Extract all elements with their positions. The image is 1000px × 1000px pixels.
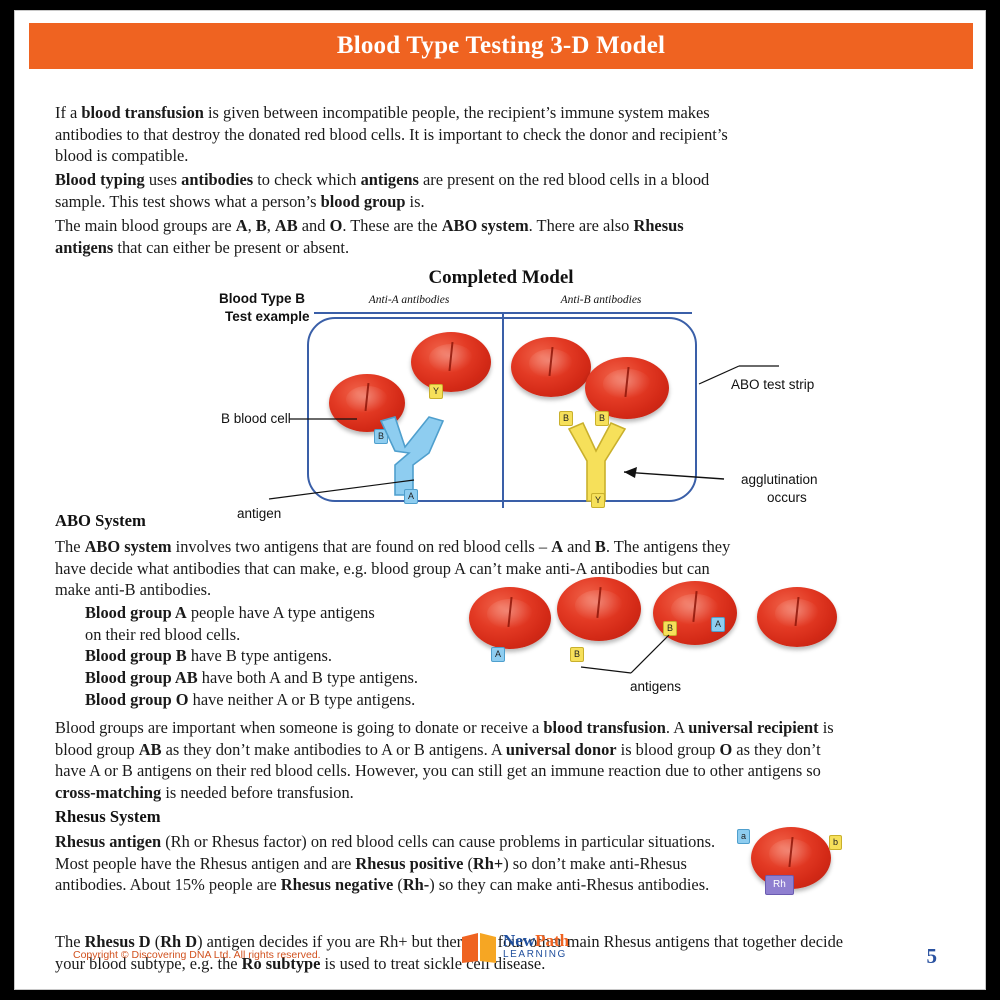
logo-text: NewPath	[503, 931, 569, 951]
antigen-tag-b: b	[829, 835, 842, 850]
blood-cell	[757, 587, 837, 647]
abo-bullet-a-rest: people have A type antigens	[187, 603, 375, 622]
newpath-learning-logo: NewPath LEARNING	[459, 929, 609, 973]
abo-bullet-a-line2: on their red blood cells.	[85, 625, 240, 644]
abo-bullet-ab-rest: have both A and B type antigens.	[198, 668, 418, 687]
page-inner: Blood Type Testing 3-D Model If a blood …	[29, 23, 973, 979]
abo-bullet-o-rest: have neither A or B type antigens.	[189, 690, 416, 709]
blood-cell	[469, 587, 551, 649]
logo-learning: LEARNING	[503, 949, 567, 960]
abo-bullet-ab-bold: Blood group AB	[85, 668, 198, 687]
abo-bullet-o: Blood group O have neither A or B type a…	[85, 689, 515, 711]
label-b-blood-cell: B blood cell	[221, 411, 291, 426]
paragraph-rhesus-1: Rhesus antigen (Rh or Rhesus factor) on …	[55, 831, 745, 896]
label-antigens: antigens	[630, 679, 681, 694]
abo-bullet-o-bold: Blood group O	[85, 690, 189, 709]
label-agglutination-line1: agglutination	[741, 472, 818, 487]
book-icon	[459, 931, 501, 965]
logo-new: New	[503, 931, 535, 950]
abo-bullet-ab: Blood group AB have both A and B type an…	[85, 667, 485, 689]
page-number: 5	[927, 944, 938, 969]
abo-bullet-b-bold: Blood group B	[85, 646, 187, 665]
abo-bullet-a: Blood group A people have A type antigen…	[85, 602, 385, 645]
antigen-tag: A	[491, 647, 505, 662]
label-agglutination-line2: occurs	[767, 490, 807, 505]
paragraph-abo-intro: The ABO system involves two antigens tha…	[55, 536, 745, 601]
abo-bullet-b: Blood group B have B type antigens.	[85, 645, 415, 667]
document-page: Blood Type Testing 3-D Model If a blood …	[14, 10, 986, 990]
heading-rhesus-system: Rhesus System	[55, 807, 161, 827]
footer-copyright: Copyright © Discovering DNA Ltd. All rig…	[73, 949, 321, 961]
page-body: If a blood transfusion is given between …	[29, 69, 973, 979]
heading-abo-system: ABO System	[55, 511, 146, 531]
antigen-tag-a: a	[737, 829, 750, 844]
label-abo-test-strip: ABO test strip	[731, 377, 814, 392]
abo-bullet-a-bold: Blood group A	[85, 603, 187, 622]
logo-path: Path	[535, 931, 569, 950]
paragraph-donate: Blood groups are important when someone …	[55, 717, 845, 803]
antigen-tag-rh: Rh	[765, 875, 794, 895]
antigens-leader-lines	[569, 629, 729, 679]
page-title: Blood Type Testing 3-D Model	[337, 32, 665, 60]
page-header: Blood Type Testing 3-D Model	[29, 23, 973, 69]
abo-bullet-b-rest: have B type antigens.	[187, 646, 332, 665]
label-antigen: antigen	[237, 506, 281, 521]
completed-model-diagram: Blood Type B Test example Anti-A antibod…	[29, 69, 973, 319]
